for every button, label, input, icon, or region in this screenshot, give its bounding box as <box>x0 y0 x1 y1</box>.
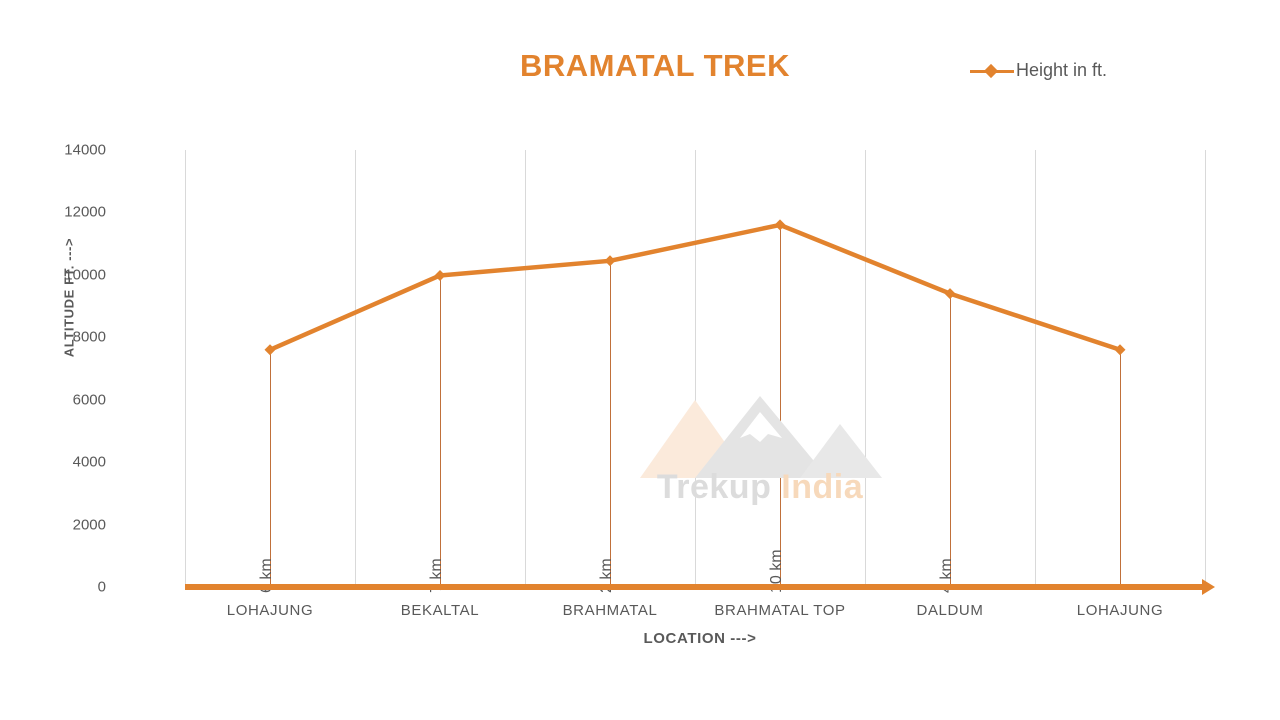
y-axis-tick-label: 10000 <box>26 266 106 283</box>
x-axis-tick-label: LOHAJUNG <box>1005 602 1235 619</box>
plot-area: 02000400060008000100001200014000 6 km7 k… <box>185 150 1205 587</box>
y-axis-tick-label: 14000 <box>26 142 106 159</box>
chart-legend: Height in ft. <box>970 60 1107 81</box>
y-axis-tick-label: 6000 <box>26 391 106 408</box>
data-point-marker <box>1115 344 1126 355</box>
x-axis-arrow-icon <box>1202 579 1215 595</box>
y-axis-title: ALTITUDE FT. ---> <box>62 203 77 393</box>
y-axis-tick-label: 12000 <box>26 204 106 221</box>
y-axis-tick-label: 8000 <box>26 329 106 346</box>
grid-line <box>1205 150 1206 587</box>
chart-container: BRAMATAL TREK Height in ft. ALTITUDE FT.… <box>0 0 1280 720</box>
chart-title: BRAMATAL TREK <box>380 48 930 84</box>
y-axis-tick-label: 2000 <box>26 516 106 533</box>
y-axis-tick-label: 4000 <box>26 454 106 471</box>
x-axis-title: LOCATION ---> <box>480 630 920 647</box>
y-axis-tick-label: 0 <box>26 579 106 596</box>
series-height-in-ft <box>185 150 1205 587</box>
x-axis-baseline <box>185 584 1205 590</box>
data-point-marker <box>605 255 616 266</box>
legend-label-height: Height in ft. <box>1016 60 1107 81</box>
legend-line-marker-icon <box>970 64 1014 78</box>
